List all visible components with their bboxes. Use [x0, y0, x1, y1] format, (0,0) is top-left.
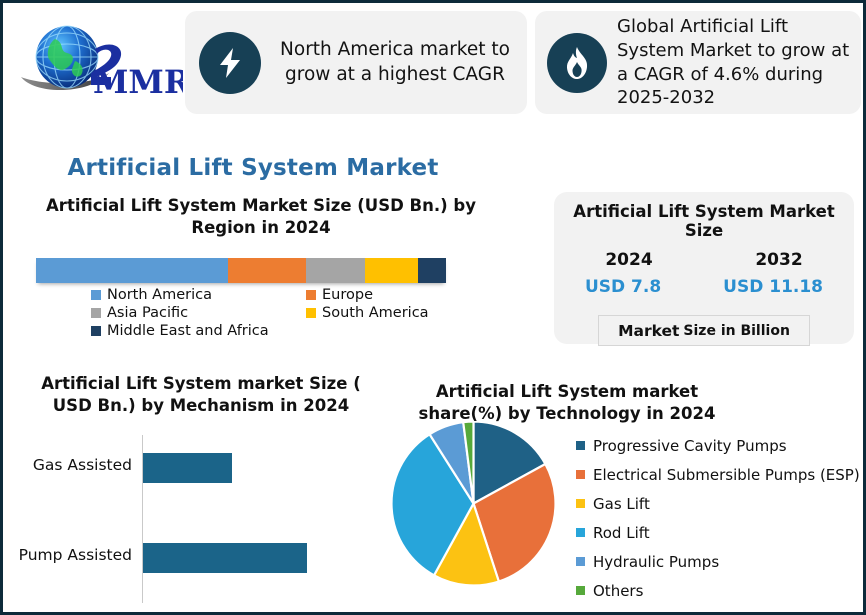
region-segment-2 [306, 258, 365, 283]
legend-label-asia-pacific: Asia Pacific [107, 305, 188, 321]
region-segment-0 [36, 258, 228, 283]
legend-item-europe: Europe [306, 287, 471, 303]
legend-item-progressive-cavity-pumps: Progressive Cavity Pumps [576, 431, 862, 460]
flame-icon [547, 33, 607, 93]
mechanism-label-pump-assisted: Pump Assisted [19, 546, 132, 564]
legend-swatch-north-america [91, 290, 101, 300]
legend-item-others: Others [576, 576, 862, 605]
legend-item-asia-pacific: Asia Pacific [91, 305, 306, 321]
legend-swatch-europe [306, 290, 316, 300]
mechanism-bar-gas-assisted [143, 453, 232, 483]
region-chart-title: Artificial Lift System Market Size (USD … [41, 195, 481, 240]
legend-swatch-esp [576, 470, 585, 479]
mechanism-row-pump-assisted: Pump Assisted [13, 543, 343, 573]
legend-label-hydraulic-pumps: Hydraulic Pumps [593, 553, 719, 571]
market-size-value-2032: USD 11.18 [723, 277, 823, 297]
page-title: Artificial Lift System Market [3, 155, 503, 181]
header: MMR North America market to grow at a hi… [3, 3, 863, 121]
region-stacked-bar [36, 258, 446, 283]
legend-swatch-hydraulic-pumps [576, 557, 585, 566]
legend-swatch-rod-lift [576, 528, 585, 537]
market-size-year-2032: 2032 [755, 250, 802, 270]
legend-label-esp: Electrical Submersible Pumps (ESP) [593, 466, 860, 484]
legend-item-north-america: North America [91, 287, 306, 303]
legend-swatch-progressive-cavity-pumps [576, 441, 585, 450]
legend-swatch-south-america [306, 308, 316, 318]
legend-label-rod-lift: Rod Lift [593, 524, 650, 542]
region-segment-1 [228, 258, 306, 283]
header-card-one-text: North America market to grow at a highes… [273, 38, 517, 87]
legend-item-south-america: South America [306, 305, 471, 321]
legend-swatch-middle-east-africa [91, 326, 101, 336]
region-legend: North America Europe Asia Pacific South … [91, 287, 471, 339]
market-size-card: Artificial Lift System Market Size 2024 … [554, 192, 854, 344]
market-size-footer: Market Size in Billion [598, 315, 810, 346]
mechanism-bar-pump-assisted [143, 543, 307, 573]
technology-legend: Progressive Cavity Pumps Electrical Subm… [576, 431, 862, 605]
header-card-north-america: North America market to grow at a highes… [185, 11, 527, 114]
mmr-logo: MMR [15, 21, 183, 105]
legend-label-north-america: North America [107, 287, 212, 303]
mechanism-chart-title: Artificial Lift System market Size ( USD… [31, 373, 371, 418]
legend-swatch-gas-lift [576, 499, 585, 508]
legend-swatch-asia-pacific [91, 308, 101, 318]
mechanism-row-gas-assisted: Gas Assisted [13, 453, 343, 483]
market-size-title: Artificial Lift System Market Size [554, 202, 854, 241]
legend-item-middle-east-africa: Middle East and Africa [91, 323, 306, 339]
svg-text:MMR: MMR [93, 63, 183, 101]
header-card-two-text: Global Artificial Lift System Market to … [617, 15, 853, 111]
legend-item-esp: Electrical Submersible Pumps (ESP) [576, 460, 862, 489]
market-size-value-2024: USD 7.8 [585, 277, 661, 297]
technology-pie-chart [391, 421, 556, 586]
legend-label-gas-lift: Gas Lift [593, 495, 650, 513]
market-size-years: 2024 2032 [554, 250, 854, 270]
legend-label-others: Others [593, 582, 643, 600]
legend-label-middle-east-africa: Middle East and Africa [107, 323, 269, 339]
legend-label-south-america: South America [322, 305, 429, 321]
infographic-page: MMR North America market to grow at a hi… [0, 0, 866, 615]
mechanism-label-gas-assisted: Gas Assisted [33, 456, 132, 474]
market-size-year-2024: 2024 [605, 250, 652, 270]
market-size-footer-rest: Size in Billion [683, 323, 790, 339]
header-card-global-cagr: Global Artificial Lift System Market to … [535, 11, 861, 114]
lightning-bolt-icon [199, 32, 261, 94]
legend-item-gas-lift: Gas Lift [576, 489, 862, 518]
region-segment-3 [365, 258, 418, 283]
region-segment-4 [418, 258, 446, 283]
legend-item-hydraulic-pumps: Hydraulic Pumps [576, 547, 862, 576]
market-size-footer-strong: Market [618, 322, 679, 340]
technology-chart-title: Artificial Lift System market share(%) b… [407, 381, 727, 426]
legend-label-europe: Europe [322, 287, 373, 303]
legend-label-progressive-cavity-pumps: Progressive Cavity Pumps [593, 437, 787, 455]
legend-item-rod-lift: Rod Lift [576, 518, 862, 547]
mechanism-chart-plot: Gas Assisted Pump Assisted [13, 435, 343, 607]
legend-swatch-others [576, 586, 585, 595]
market-size-values: USD 7.8 USD 11.18 [554, 277, 854, 297]
